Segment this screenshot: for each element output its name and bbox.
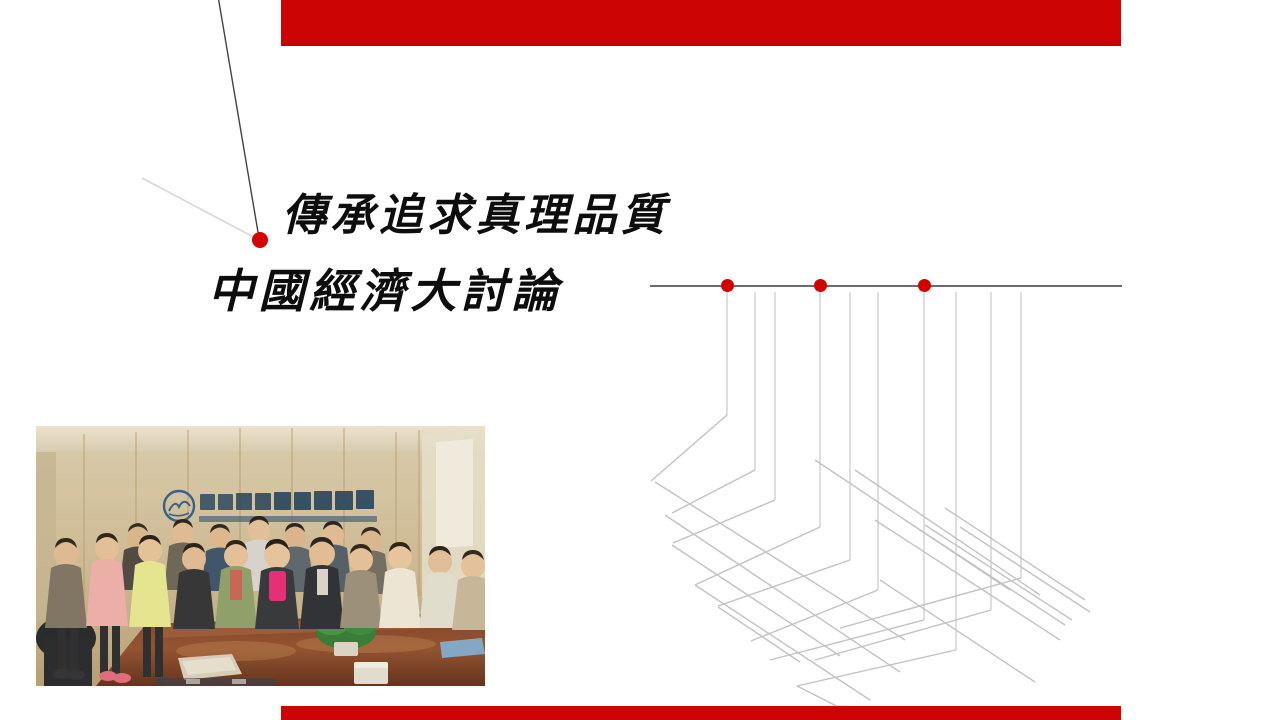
title-line-secondary: 中國經濟大討論 xyxy=(208,262,760,322)
timeline-dot-3 xyxy=(918,279,931,292)
presentation-slide: 傳承追求真理品質 中國經濟大討論 xyxy=(0,0,1280,720)
title-line-primary: 傳承追求真理品質 xyxy=(282,188,760,244)
title-block: 傳承追求真理品質 中國經濟大討論 xyxy=(200,188,760,322)
group-photo-image xyxy=(36,426,485,686)
top-red-banner xyxy=(281,0,1121,46)
bottom-red-banner xyxy=(281,706,1121,720)
timeline-dot-2 xyxy=(814,279,827,292)
timeline-dot-1 xyxy=(721,279,734,292)
group-photo: 东北大学工商管理学院 xyxy=(36,426,485,686)
